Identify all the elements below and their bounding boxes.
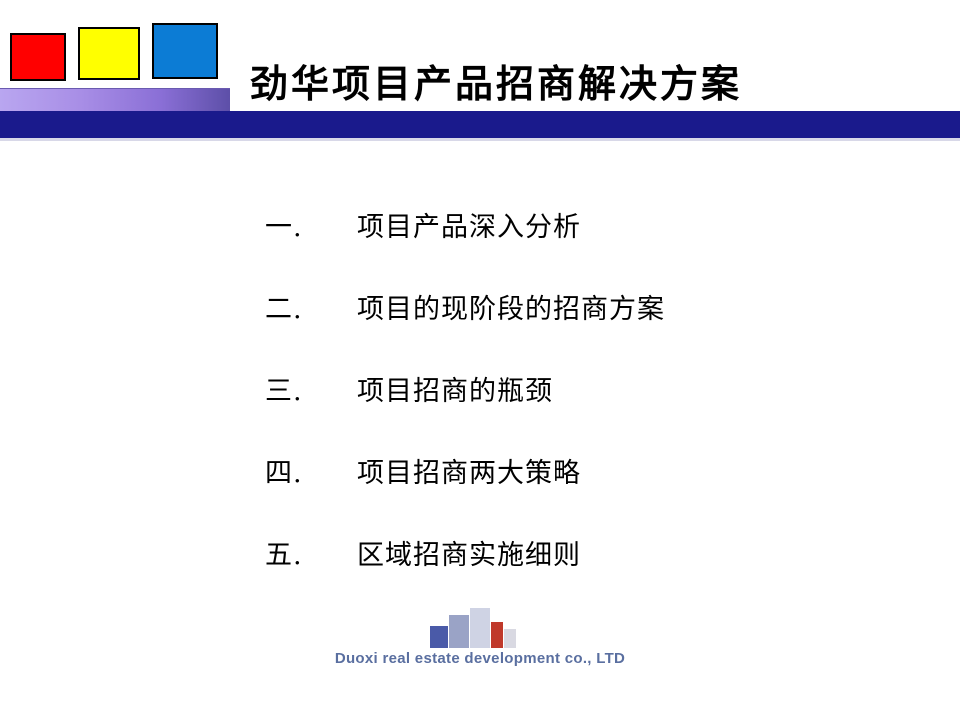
- footer-logo: Duoxi real estate development co., LTD: [330, 608, 630, 678]
- decor-navy-bar: [0, 111, 960, 138]
- list-item-label: 区域招商实施细则: [357, 533, 581, 572]
- list-item-label: 项目的现阶段的招商方案: [357, 287, 665, 326]
- company-logo-icon: [430, 608, 516, 648]
- company-name: Duoxi real estate development co., LTD: [330, 650, 630, 667]
- list-item-label: 项目招商的瓶颈: [357, 369, 553, 408]
- list-item-number: 五.: [265, 533, 357, 572]
- list-item-label: 项目产品深入分析: [357, 205, 581, 244]
- list-item-number: 一.: [265, 205, 357, 244]
- list-item: 一. 项目产品深入分析: [265, 205, 885, 287]
- decor-navy-bar-shadow: [0, 138, 960, 141]
- list-item-label: 项目招商两大策略: [357, 451, 581, 490]
- list-item: 二. 项目的现阶段的招商方案: [265, 287, 885, 369]
- page-title: 劲华项目产品招商解决方案: [250, 53, 940, 108]
- list-item: 四. 项目招商两大策略: [265, 451, 885, 533]
- decor-gradient-bar: [0, 88, 230, 112]
- list-item-number: 二.: [265, 287, 357, 326]
- slide: 劲华项目产品招商解决方案 一. 项目产品深入分析 二. 项目的现阶段的招商方案 …: [0, 0, 960, 720]
- list-item-number: 四.: [265, 451, 357, 490]
- decor-swatch-red: [10, 33, 66, 81]
- agenda-list: 一. 项目产品深入分析 二. 项目的现阶段的招商方案 三. 项目招商的瓶颈 四.…: [265, 205, 885, 615]
- list-item: 三. 项目招商的瓶颈: [265, 369, 885, 451]
- list-item-number: 三.: [265, 369, 357, 408]
- list-item: 五. 区域招商实施细则: [265, 533, 885, 615]
- decor-swatch-yellow: [78, 27, 140, 80]
- decor-swatch-blue: [152, 23, 218, 79]
